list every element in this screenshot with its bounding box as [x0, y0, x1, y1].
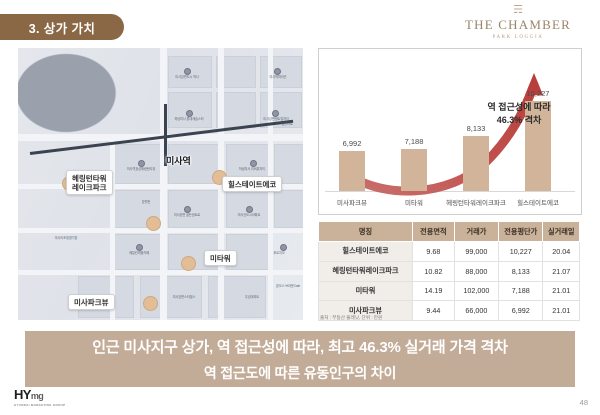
map-block — [274, 190, 303, 228]
footer-logo: HYmg HYUNDAI MARKETING GROUP — [14, 387, 65, 407]
cell-area: 9.44 — [412, 301, 454, 321]
map-road — [110, 134, 115, 320]
cell-date: 20.04 — [543, 242, 580, 262]
banner-line-2: 역 접근도에 따른 유동인구의 차이 — [204, 363, 396, 383]
map-poi-label: 우성아파트 — [224, 295, 280, 299]
map-poi-dot — [186, 110, 193, 117]
summary-banner: 인근 미사지구 상가, 역 접근성에 따라, 최고 46.3% 실거래 가격 격… — [25, 331, 575, 387]
map-poi-label: 미사강변 골든센트로 — [158, 213, 216, 217]
cell-date: 21.01 — [543, 281, 580, 301]
location-map[interactable]: 미사강변도시 역사 하남미사 롯데캐슬스타 미사역파라곤 미사강변센트럴자이 미… — [18, 48, 303, 320]
map-poi-label: 미사역파라곤 — [250, 75, 303, 79]
brand-subtitle: PARK LOGGIA — [493, 35, 544, 40]
map-label-mitower[interactable]: 미타워 — [204, 250, 237, 266]
banner-line-1: 인근 미사지구 상가, 역 접근성에 따라, 최고 46.3% 실거래 가격 격… — [92, 336, 508, 357]
cell-price: 88,000 — [454, 261, 498, 281]
chart-annotation: 역 접근성에 따라 46.3% 격차 — [467, 101, 571, 127]
map-poi-label: 미사신도시아파트 — [220, 213, 278, 217]
map-poi-dot — [280, 244, 287, 251]
map-poi-label: 남한사로 — [264, 122, 303, 126]
map-block — [168, 190, 220, 228]
cell-area: 14.19 — [412, 281, 454, 301]
map-poi-dot — [184, 68, 191, 75]
section-tab: 3. 상가 가치 — [0, 14, 124, 40]
section-tab-label: 3. 상가 가치 — [29, 18, 96, 37]
cell-unitprice: 7,188 — [499, 281, 543, 301]
bar-value-mitower: 7,188 — [384, 137, 444, 146]
footer-logo-main: HY — [14, 387, 31, 402]
table-header-row: 명칭 전용면적 거래가 전용평단가 실거래일 — [319, 222, 580, 242]
bar-misaparkview — [339, 151, 365, 191]
map-poi-label: 본오스 브라운Cafe — [268, 284, 303, 288]
cell-price: 102,000 — [454, 281, 498, 301]
map-poi-label: 푸르지오 — [256, 251, 302, 255]
price-bar-chart: 6,992 7,188 8,133 10,227 미사파크뷰 미타워 헤링턴타워… — [318, 48, 582, 215]
cell-price: 99,000 — [454, 242, 498, 262]
brand-name: THE CHAMBER — [465, 17, 571, 33]
map-pin-mitower[interactable] — [181, 256, 196, 271]
footer-logo-sub: mg — [31, 391, 43, 401]
chart-annotation-line1: 역 접근성에 따라 — [467, 101, 571, 114]
map-poi-dot — [136, 244, 143, 251]
col-unitprice: 전용평단가 — [499, 222, 543, 242]
map-pin-herington[interactable] — [146, 216, 161, 231]
map-pin-misaparkview[interactable] — [143, 296, 158, 311]
col-name: 명칭 — [319, 222, 413, 242]
map-poi-dot — [184, 206, 191, 213]
page-number: 48 — [580, 398, 588, 407]
bar-value-misaparkview: 6,992 — [322, 139, 382, 148]
table-row: 헤링턴타워레이크파크 10.82 88,000 8,133 21.07 — [319, 261, 580, 281]
bar-category-hillstate: 힐스테이트에코 — [501, 197, 575, 207]
cell-name: 헤링턴타워레이크파크 — [319, 261, 413, 281]
cell-price: 66,000 — [454, 301, 498, 321]
col-area: 전용면적 — [412, 222, 454, 242]
chart-annotation-line2: 46.3% 격차 — [467, 114, 571, 127]
map-poi-dot — [138, 160, 145, 167]
table-row: 미타워 14.19 102,000 7,188 21.01 — [319, 281, 580, 301]
map-label-hillstate[interactable]: 힐스테이트에코 — [222, 176, 282, 192]
cell-unitprice: 6,992 — [499, 301, 543, 321]
map-poi-label: 미사강변스타힐스 — [156, 295, 212, 299]
transaction-table: 명칭 전용면적 거래가 전용평단가 실거래일 힐스테이트에코 9.68 99,0… — [318, 221, 580, 321]
bar-value-hillstate: 10,227 — [508, 89, 568, 98]
brand-emblem-icon: ☴ — [513, 6, 523, 14]
cell-name: 미타워 — [319, 281, 413, 301]
col-price: 거래가 — [454, 222, 498, 242]
chart-plot-area: 6,992 7,188 8,133 10,227 미사파크뷰 미타워 헤링턴타워… — [319, 49, 581, 214]
map-poi-label: 하남미사 리버뷰자이 — [224, 167, 280, 171]
cell-area: 9.68 — [412, 242, 454, 262]
cell-area: 10.82 — [412, 261, 454, 281]
map-poi-label: 망월천 — [122, 200, 170, 204]
map-poi-dot — [272, 110, 279, 117]
map-label-herington[interactable]: 헤링턴타워 레이크파크 — [66, 170, 113, 195]
map-poi-label: 에일린의뜰카페 — [110, 251, 168, 255]
table-source-note: 출처 : 부동산 플래닛, 단위 : 만원 — [320, 315, 382, 321]
cell-date: 21.07 — [543, 261, 580, 281]
footer-logo-tagline: HYUNDAI MARKETING GROUP — [14, 403, 65, 407]
table-row: 힐스테이트에코 9.68 99,000 10,227 20.04 — [319, 242, 580, 262]
map-poi-label: 하남미사 롯데캐슬스타 — [160, 117, 218, 121]
map-poi-label: 미사리조정경기장 — [42, 236, 90, 240]
map-road — [160, 48, 167, 320]
brand-logo: ☴ THE CHAMBER PARK LOGGIA — [458, 6, 578, 46]
map-station-label: 미사역 — [166, 154, 191, 167]
map-poi-label: 미사강변도시 역사 — [158, 75, 216, 79]
bar-mitower — [401, 149, 427, 191]
cell-unitprice: 10,227 — [499, 242, 543, 262]
map-poi-label: 미사강변센트럴자이 — [248, 117, 303, 121]
map-poi-dot — [246, 206, 253, 213]
col-date: 실거래일 — [543, 222, 580, 242]
cell-unitprice: 8,133 — [499, 261, 543, 281]
map-poi-dot — [274, 68, 281, 75]
map-poi-label: 미사역효성해링턴타워 — [112, 167, 170, 171]
map-poi-dot — [250, 160, 257, 167]
map-label-misaparkview[interactable]: 미사파크뷰 — [68, 294, 115, 310]
map-block — [260, 56, 302, 88]
bar-herington — [463, 136, 489, 191]
cell-name: 힐스테이트에코 — [319, 242, 413, 262]
cell-date: 21.01 — [543, 301, 580, 321]
